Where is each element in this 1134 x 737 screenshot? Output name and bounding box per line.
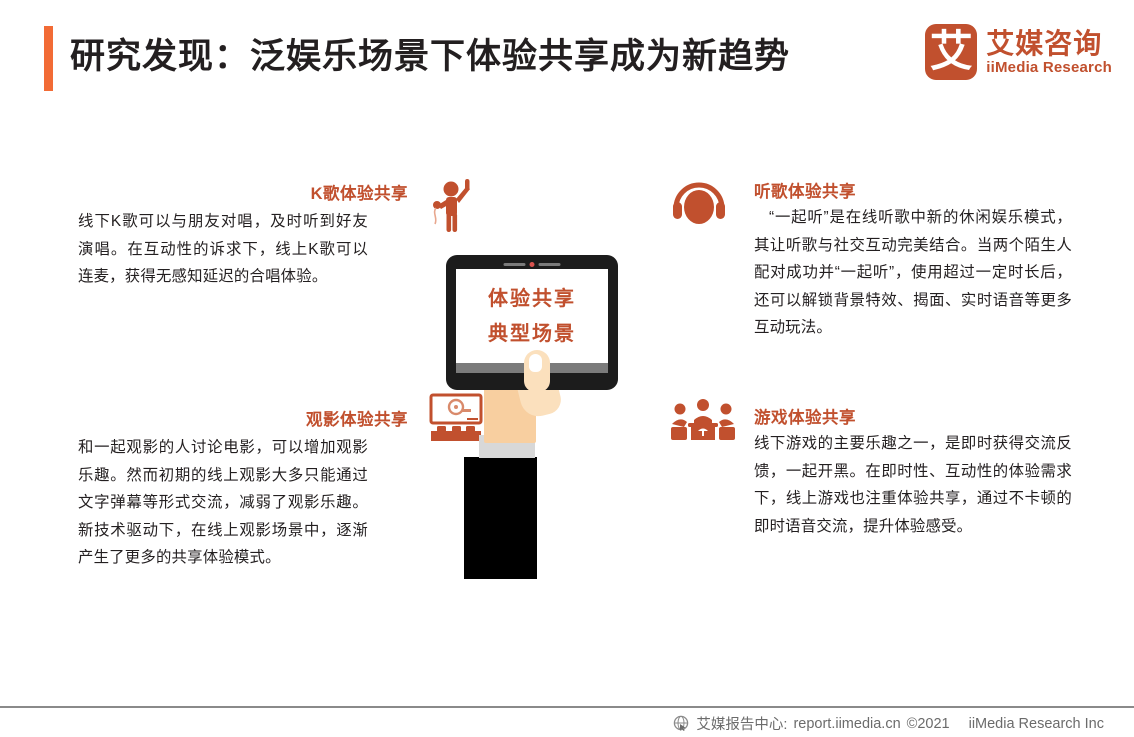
tablet-screen: 体验共享 典型场景 <box>456 269 608 363</box>
tablet-screen-line-2: 典型场景 <box>488 323 576 345</box>
logo-mark-glyph: 艾 <box>925 24 977 80</box>
section-ktv-heading: K歌体验共享 <box>208 180 408 204</box>
grille-bar-right <box>539 263 561 266</box>
tablet-speaker-grille <box>504 262 561 267</box>
camera-dot-icon <box>530 262 535 267</box>
arm-sleeve <box>464 457 537 579</box>
people-gaming-icon <box>668 398 730 456</box>
section-game-heading: 游戏体验共享 <box>754 404 856 428</box>
logo-name-en: iiMedia Research <box>986 59 1112 77</box>
hand-fingernail <box>529 354 542 372</box>
section-movie-body: 和一起观影的人讨论电影，可以增加观影乐趣。然而初期的线上观影大多只能通过文字弹幕… <box>78 434 368 572</box>
section-ktv-body: 线下K歌可以与朋友对唱，及时听到好友演唱。在互动性的诉求下，线上K歌可以连麦，获… <box>78 208 368 291</box>
footer-url[interactable]: report.iimedia.cn <box>793 716 900 732</box>
logo-text: 艾媒咨询 iiMedia Research <box>986 28 1112 77</box>
page-title: 研究发现：泛娱乐场景下体验共享成为新趋势 <box>70 28 790 86</box>
section-music-body: “一起听”是在线听歌中新的休闲娱乐模式，其让听歌与社交互动完美结合。当两个陌生人… <box>754 204 1072 342</box>
page-header: 研究发现：泛娱乐场景下体验共享成为新趋势 艾 艾媒咨询 iiMedia Rese… <box>0 0 1134 110</box>
footer-company: iiMedia Research Inc <box>969 716 1104 732</box>
footer-center-label: 艾媒报告中心: <box>696 713 787 734</box>
grille-bar-left <box>504 263 526 266</box>
section-music-heading: 听歌体验共享 <box>754 178 856 202</box>
logo-mark-icon: 艾 <box>925 24 977 80</box>
footer-copyright: ©2021 <box>907 716 950 732</box>
footer-divider <box>0 706 1134 708</box>
brand-logo: 艾 艾媒咨询 iiMedia Research <box>925 22 1112 82</box>
page-footer: 艾媒报告中心: report.iimedia.cn ©2021 iiMedia … <box>0 710 1134 737</box>
tablet-illustration: 体验共享 典型场景 <box>440 250 650 590</box>
logo-name-cn: 艾媒咨询 <box>986 28 1112 59</box>
singer-microphone-icon <box>422 176 484 234</box>
globe-cursor-icon <box>673 715 690 732</box>
section-movie-heading: 观影体验共享 <box>208 406 408 430</box>
section-game-body: 线下游戏的主要乐趣之一，是即时获得交流反馈，一起开黑。在即时性、互动性的体验需求… <box>754 430 1072 540</box>
tablet-screen-line-1: 体验共享 <box>488 288 576 310</box>
title-accent-bar <box>44 26 53 91</box>
headphones-icon <box>668 172 730 230</box>
